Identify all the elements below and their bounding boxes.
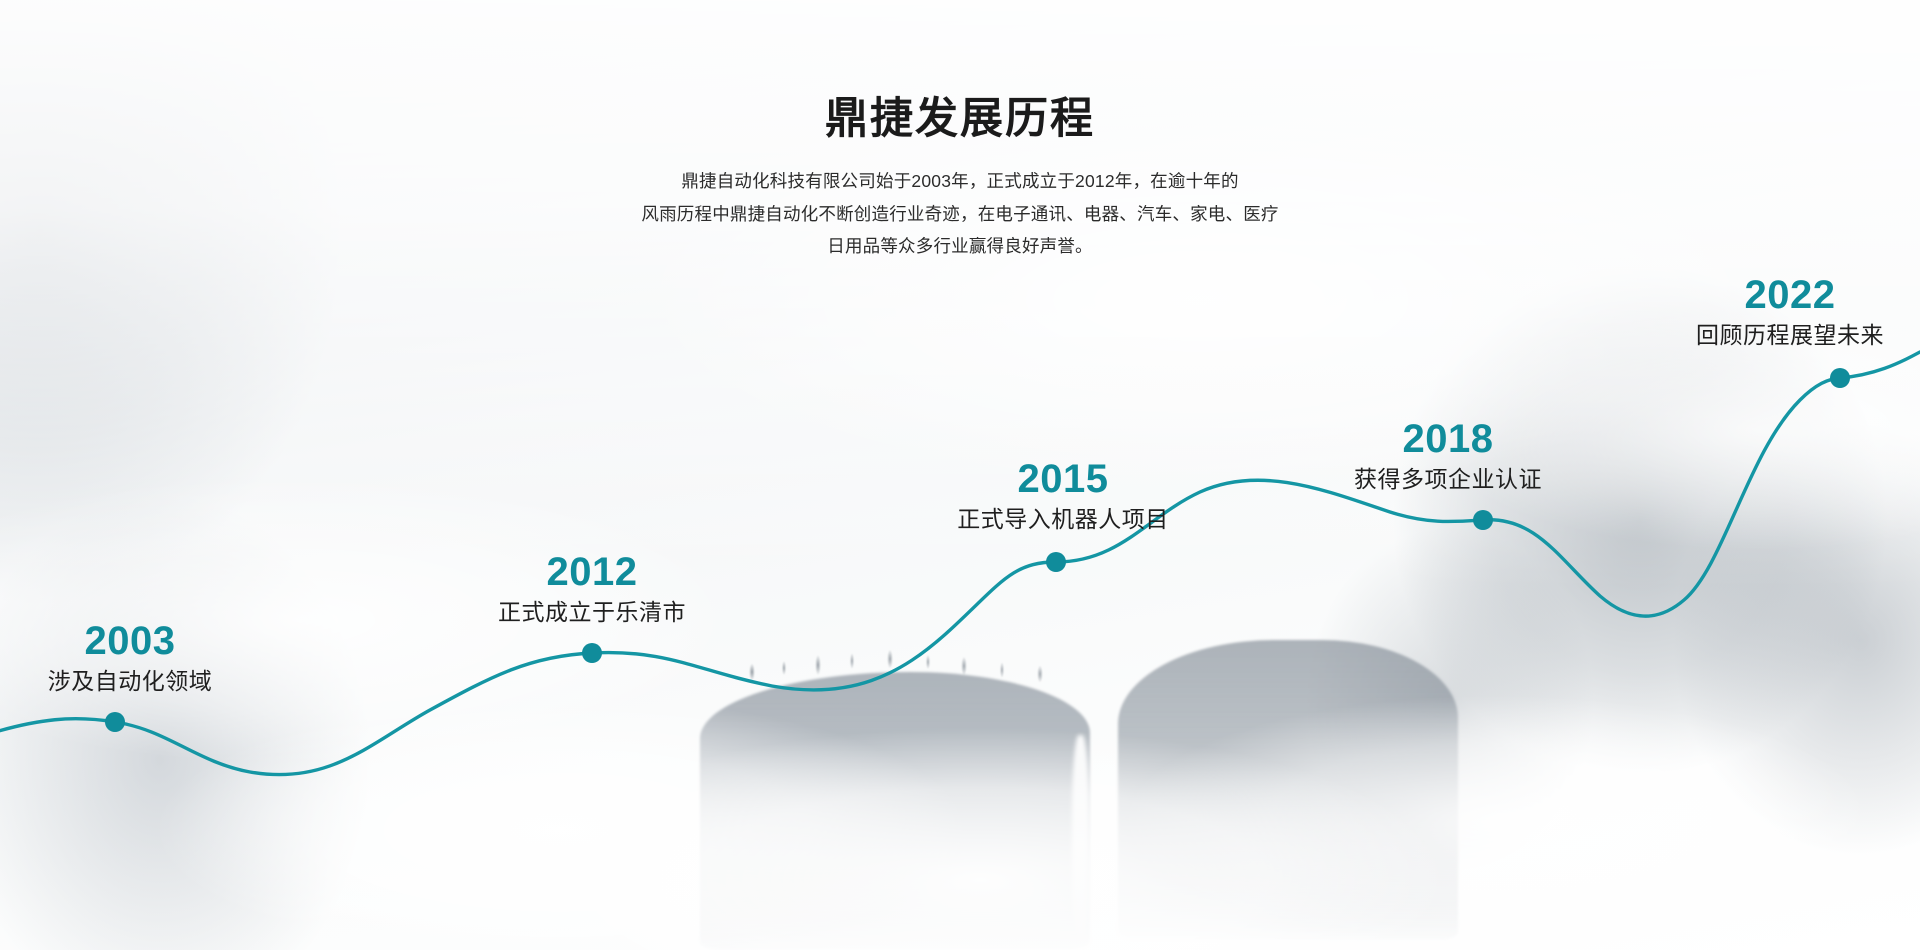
timeline-dot-2022[interactable]	[1830, 368, 1850, 388]
timeline-curve-line	[0, 352, 1920, 775]
subtitle-line-2: 风雨历程中鼎捷自动化不断创造行业奇迹，在电子通讯、电器、汽车、家电、医疗	[0, 198, 1920, 230]
subtitle-line-3: 日用品等众多行业赢得良好声誉。	[0, 230, 1920, 262]
header: 鼎捷发展历程 鼎捷自动化科技有限公司始于2003年，正式成立于2012年，在逾十…	[0, 96, 1920, 262]
milestone-year-2015: 2015	[957, 458, 1169, 500]
page-title: 鼎捷发展历程	[0, 96, 1920, 143]
milestone-desc-2015: 正式导入机器人项目	[957, 506, 1169, 534]
milestone-2022[interactable]: 2022回顾历程展望未来	[1696, 274, 1884, 350]
timeline-dot-2015[interactable]	[1046, 552, 1066, 572]
timeline-infographic: 鼎捷发展历程 鼎捷自动化科技有限公司始于2003年，正式成立于2012年，在逾十…	[0, 0, 1920, 950]
milestone-2012[interactable]: 2012正式成立于乐清市	[498, 551, 686, 627]
page-subtitle: 鼎捷自动化科技有限公司始于2003年，正式成立于2012年，在逾十年的 风雨历程…	[0, 165, 1920, 262]
milestone-desc-2022: 回顾历程展望未来	[1696, 322, 1884, 350]
milestone-desc-2003: 涉及自动化领域	[48, 668, 213, 696]
milestone-desc-2018: 获得多项企业认证	[1354, 466, 1542, 494]
timeline-dot-2018[interactable]	[1473, 510, 1493, 530]
milestone-2003[interactable]: 2003涉及自动化领域	[48, 620, 213, 696]
milestone-desc-2012: 正式成立于乐清市	[498, 599, 686, 627]
milestone-year-2012: 2012	[498, 551, 686, 593]
milestone-2015[interactable]: 2015正式导入机器人项目	[957, 458, 1169, 534]
subtitle-line-1: 鼎捷自动化科技有限公司始于2003年，正式成立于2012年，在逾十年的	[0, 165, 1920, 197]
milestone-year-2003: 2003	[48, 620, 213, 662]
milestone-year-2022: 2022	[1696, 274, 1884, 316]
timeline-dot-2003[interactable]	[105, 712, 125, 732]
milestone-2018[interactable]: 2018获得多项企业认证	[1354, 418, 1542, 494]
milestone-year-2018: 2018	[1354, 418, 1542, 460]
timeline-dot-2012[interactable]	[582, 643, 602, 663]
timeline-dot-group	[105, 368, 1850, 732]
